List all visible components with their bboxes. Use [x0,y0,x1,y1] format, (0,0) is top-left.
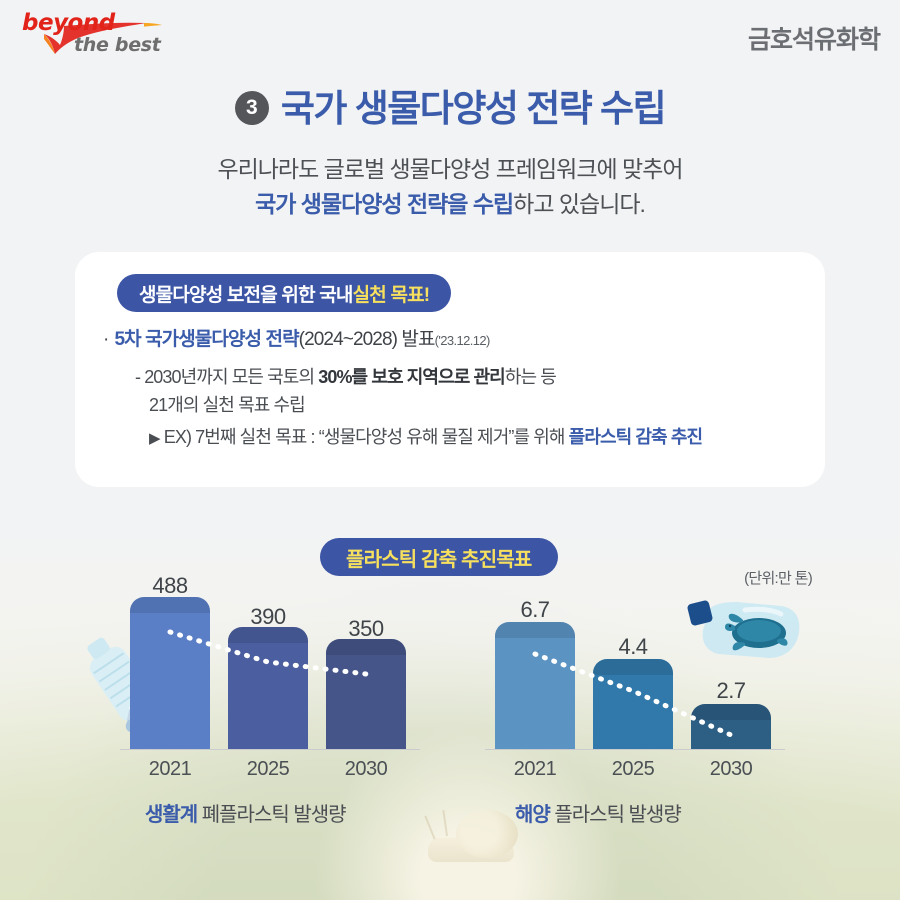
triangle-marker-icon: ▶ [149,430,160,447]
subtitle-line-2: 국가 생물다양성 전략을 수립하고 있습니다. [0,187,900,222]
chart-caption-left: 생활계 폐플라스틱 발생량 [145,798,346,827]
sub2-plain: EX) 7번째 실천 목표 : “생물다양성 유해 물질 제거”를 위해 [160,427,569,447]
subtitle-rest: 하고 있습니다. [513,191,645,217]
bar-2021 [130,597,210,749]
goals-subline-2: ▶ EX) 7번째 실천 목표 : “생물다양성 유해 물질 제거”를 위해 플… [149,428,849,446]
caption-right-blue: 해양 [515,804,550,826]
bar-cap [593,659,673,675]
subtitle-line-1: 우리나라도 글로벌 생물다양성 프레임워크에 맞추어 [0,152,900,187]
bar-cap [130,597,210,613]
bullet-blue-text: 5차 국가생물다양성 전략 [114,329,298,350]
chart-household-plastic: 488 390 350 2021 2025 2030 [120,585,420,785]
bullet-note: ('23.12.12) [435,333,490,348]
x-label-2025: 2025 [593,758,673,781]
chart-axis-line [120,749,420,750]
goals-bullet: ·5차 국가생물다양성 전략(2024~2028) 발표('23.12.12) [103,330,803,349]
sub2-blue: 플라스틱 감축 추진 [569,427,702,447]
bar-value-2025: 4.4 [593,634,673,660]
bar-2030 [691,704,771,749]
subtitle-highlight: 국가 생물다양성 전략을 수립 [255,191,513,217]
x-label-2025: 2025 [228,758,308,781]
sub1-part-c: 하는 등 [505,367,556,387]
bullet-marker: · [103,329,108,350]
page-title-text: 국가 생물다양성 전략 수립 [281,90,665,127]
bar-value-2021: 6.7 [495,597,575,623]
chart-section-badge: 플라스틱 감축 추진목표 [320,538,558,576]
bar-value-2030: 350 [326,616,406,642]
subtitle: 우리나라도 글로벌 생물다양성 프레임워크에 맞추어 국가 생물다양성 전략을 … [0,152,900,221]
caption-left-blue: 생활계 [145,804,197,826]
bar-2025 [228,627,308,749]
bar-2030 [326,639,406,749]
goals-badge-plain: 생물다양성 보전을 위한 국내 [139,280,353,307]
beyond-the-best-logo: beyond the best [18,8,188,60]
chart-axis-line [485,749,785,750]
sub1-part-b: 30%를 보호 지역으로 관리 [318,367,505,387]
bar-cap [691,704,771,720]
logo-text-thebest: the best [74,34,161,56]
section-number-badge: 3 [235,91,269,125]
bar-value-2030: 2.7 [691,678,771,704]
goals-badge: 생물다양성 보전을 위한 국내 실천 목표! [117,274,451,312]
sub1-part-a: - 2030년까지 모든 국토의 [135,367,318,387]
company-name: 금호석유화학 [748,20,880,56]
bar-cap [495,622,575,638]
bar-value-2025: 390 [228,604,308,630]
x-label-2030: 2030 [326,758,406,781]
x-label-2021: 2021 [495,758,575,781]
x-label-2021: 2021 [130,758,210,781]
x-label-2030: 2030 [691,758,771,781]
bar-2021 [495,622,575,749]
bullet-mid-text: (2024~2028) 발표 [299,329,435,350]
bar-value-2021: 488 [130,573,210,599]
infographic-page: beyond the best 금호석유화학 3 국가 생물다양성 전략 수립 … [0,0,900,900]
logo-text-beyond: beyond [22,10,115,36]
sub1-line-2: 21개의 실천 목표 수립 [135,392,815,420]
chart-caption-right: 해양 플라스틱 발생량 [515,798,681,827]
bar-2025 [593,659,673,749]
caption-right-rest: 플라스틱 발생량 [550,804,681,826]
page-title: 3 국가 생물다양성 전략 수립 [0,82,900,134]
caption-left-rest: 폐플라스틱 발생량 [197,804,345,826]
page-header: beyond the best 금호석유화학 [0,0,900,72]
goals-subline-1: - 2030년까지 모든 국토의 30%를 보호 지역으로 관리하는 등 21개… [135,364,815,420]
goals-card: 생물다양성 보전을 위한 국내 실천 목표! ·5차 국가생물다양성 전략(20… [75,252,825,487]
chart-marine-plastic: 6.7 4.4 2.7 2021 2025 2030 [485,585,785,785]
goals-badge-highlight: 실천 목표! [353,280,430,307]
